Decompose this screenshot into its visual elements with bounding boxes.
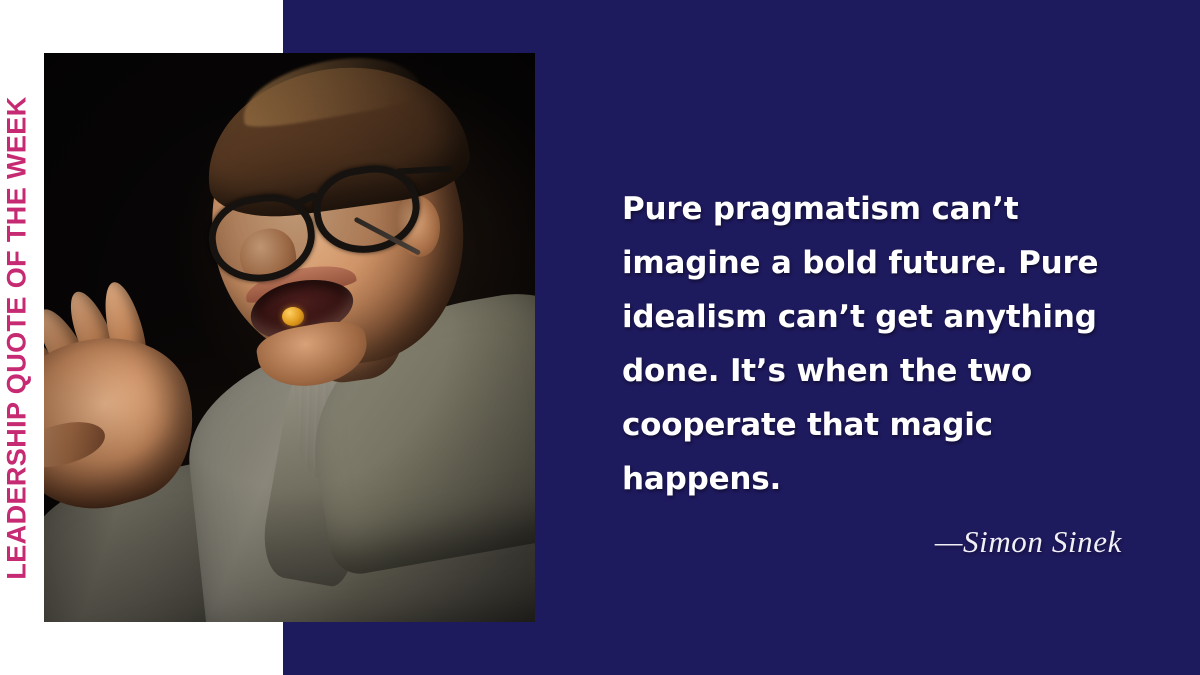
quote-block: Pure pragmatism can’t imagine a bold fut… <box>622 182 1122 560</box>
quote-attribution: —Simon Sinek <box>622 524 1122 560</box>
speaker-photo <box>44 53 535 622</box>
quote-slide: LEADERSHIP QUOTE OF THE WEEK <box>0 0 1200 675</box>
photo-headset-mic-capsule <box>282 307 304 326</box>
quote-text: Pure pragmatism can’t imagine a bold fut… <box>622 182 1122 506</box>
series-ribbon: LEADERSHIP QUOTE OF THE WEEK <box>0 0 34 675</box>
series-ribbon-label: LEADERSHIP QUOTE OF THE WEEK <box>4 96 31 579</box>
